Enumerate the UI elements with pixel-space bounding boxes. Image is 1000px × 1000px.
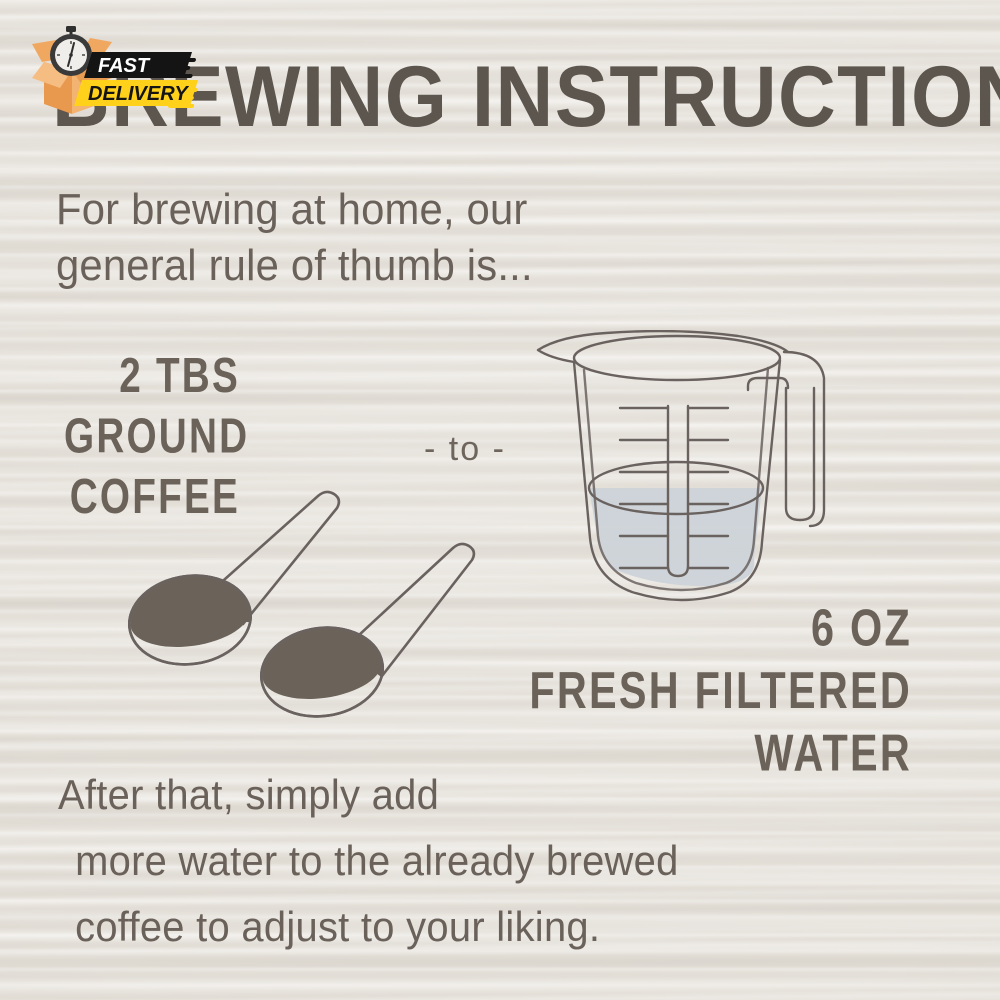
subtitle: For brewing at home, our general rule of… (56, 182, 721, 294)
stopwatch-pivot (69, 53, 73, 57)
fast-banner: FAST (84, 52, 192, 78)
brewing-instructions-poster: BREWING INSTRUCTIONS For brewing at home… (0, 0, 1000, 1000)
delivery-banner: DELIVERY (74, 80, 198, 106)
delivery-label: DELIVERY (88, 83, 189, 105)
footer-line-1: After that, simply add (58, 762, 894, 828)
cup-rim-ellipse (574, 336, 780, 380)
subtitle-line-2: general rule of thumb is... (56, 238, 721, 294)
fast-label: FAST (98, 55, 151, 77)
coffee-label-line-1: 2 TBS (64, 346, 240, 406)
footer-line-3: coffee to adjust to your liking. (58, 894, 894, 960)
subtitle-line-1: For brewing at home, our (56, 182, 721, 238)
stopwatch-icon (50, 26, 92, 76)
coffee-label-line-2: GROUND (64, 406, 240, 466)
cup-handle-strap (786, 388, 814, 520)
footer-line-2: more water to the already brewed (58, 828, 894, 894)
measuring-cup-illustration (532, 330, 932, 630)
footer-paragraph: After that, simply add more water to the… (58, 762, 894, 960)
cup-handle-outer (784, 352, 824, 526)
coffee-scoops-illustration (110, 460, 530, 720)
fast-delivery-badge[interactable]: FAST DELIVERY (20, 22, 250, 122)
